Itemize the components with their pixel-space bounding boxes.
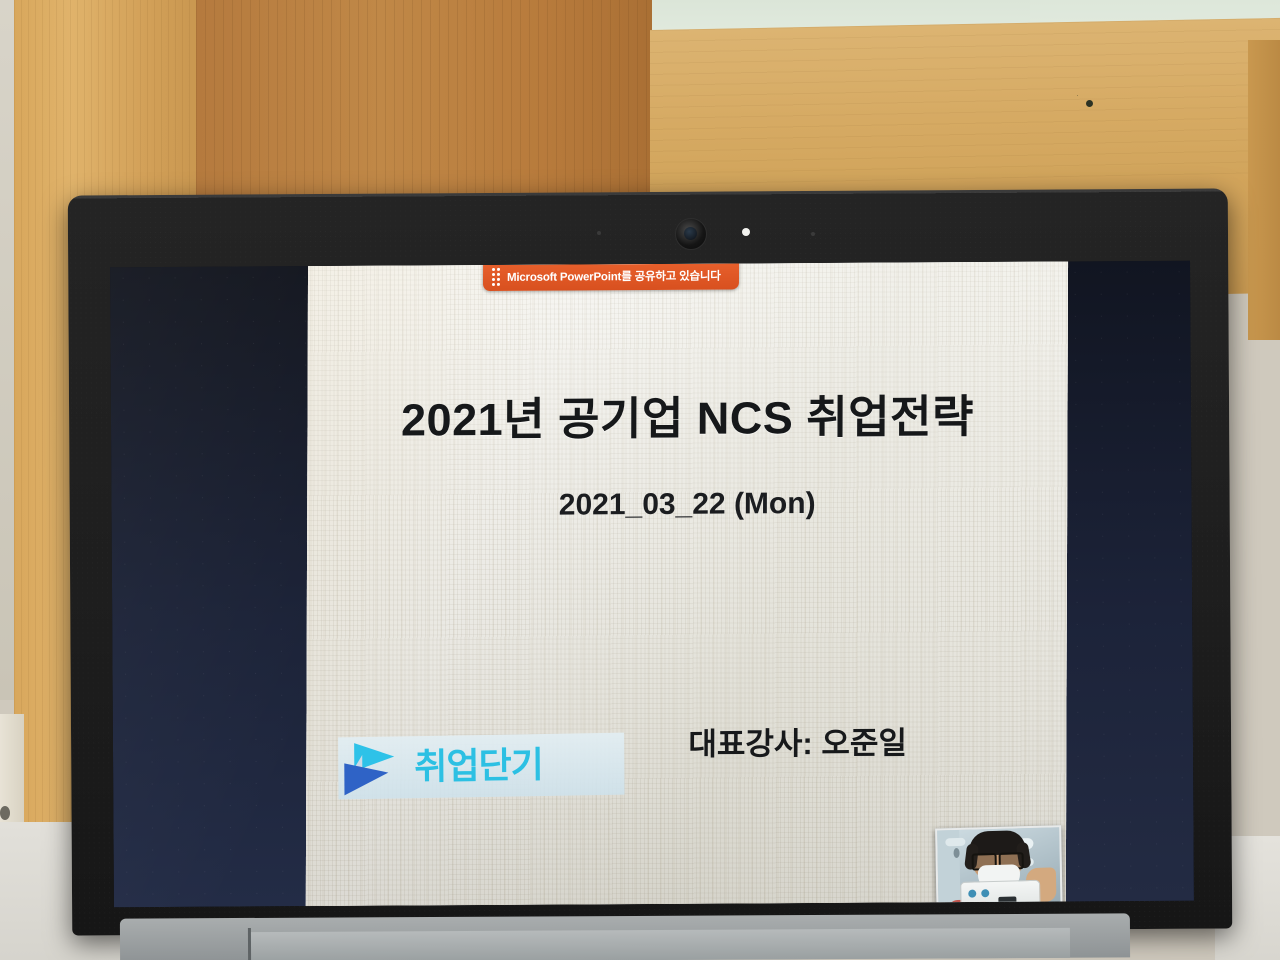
- slide-vignette: [306, 261, 1068, 906]
- laptop-screen[interactable]: Microsoft PowerPoint를 공유하고 있습니다 2021년 공기…: [110, 261, 1194, 908]
- pip-phone-camera-icon: [968, 889, 990, 898]
- slide-presenter: 대표강사: 오준일: [688, 717, 907, 763]
- wood-right-edge: [1248, 40, 1280, 340]
- slide-subtitle: 2021_03_22 (Mon): [307, 485, 1067, 524]
- share-banner-label: Microsoft PowerPoint를 공유하고 있습니다: [507, 268, 721, 285]
- self-view-thumbnail[interactable]: [935, 825, 1063, 906]
- triangle-arrow-logo-icon: [344, 740, 408, 795]
- slide-title: 2021년 공기업 NCS 취업전략: [307, 379, 1067, 449]
- camera-indicator-led: [742, 228, 750, 236]
- letterbox-left: [110, 266, 319, 907]
- brand-logo: 취업단기: [338, 733, 624, 800]
- pip-wall-knob: [953, 848, 959, 858]
- webcam-lens-icon: [675, 218, 707, 250]
- desk-object-knob: [0, 806, 10, 820]
- brand-logo-text: 취업단기: [414, 747, 543, 785]
- screenshot-stage: Microsoft PowerPoint를 공유하고 있습니다 2021년 공기…: [0, 0, 1280, 960]
- shared-slide[interactable]: Microsoft PowerPoint를 공유하고 있습니다 2021년 공기…: [306, 261, 1068, 906]
- laptop-deck-seam: [248, 928, 251, 960]
- laptop: Microsoft PowerPoint를 공유하고 있습니다 2021년 공기…: [70, 192, 1230, 960]
- laptop-palmrest[interactable]: [250, 928, 1070, 960]
- pip-light-patch-3: [945, 838, 965, 847]
- bezel-dot-left: [597, 231, 601, 235]
- letterbox-right: [1062, 261, 1194, 902]
- bezel-dot-right: [811, 232, 815, 236]
- screen-share-banner[interactable]: Microsoft PowerPoint를 공유하고 있습니다: [483, 261, 739, 291]
- drag-handle-dots-icon[interactable]: [492, 268, 500, 286]
- wall-nail-icon: [1086, 100, 1093, 107]
